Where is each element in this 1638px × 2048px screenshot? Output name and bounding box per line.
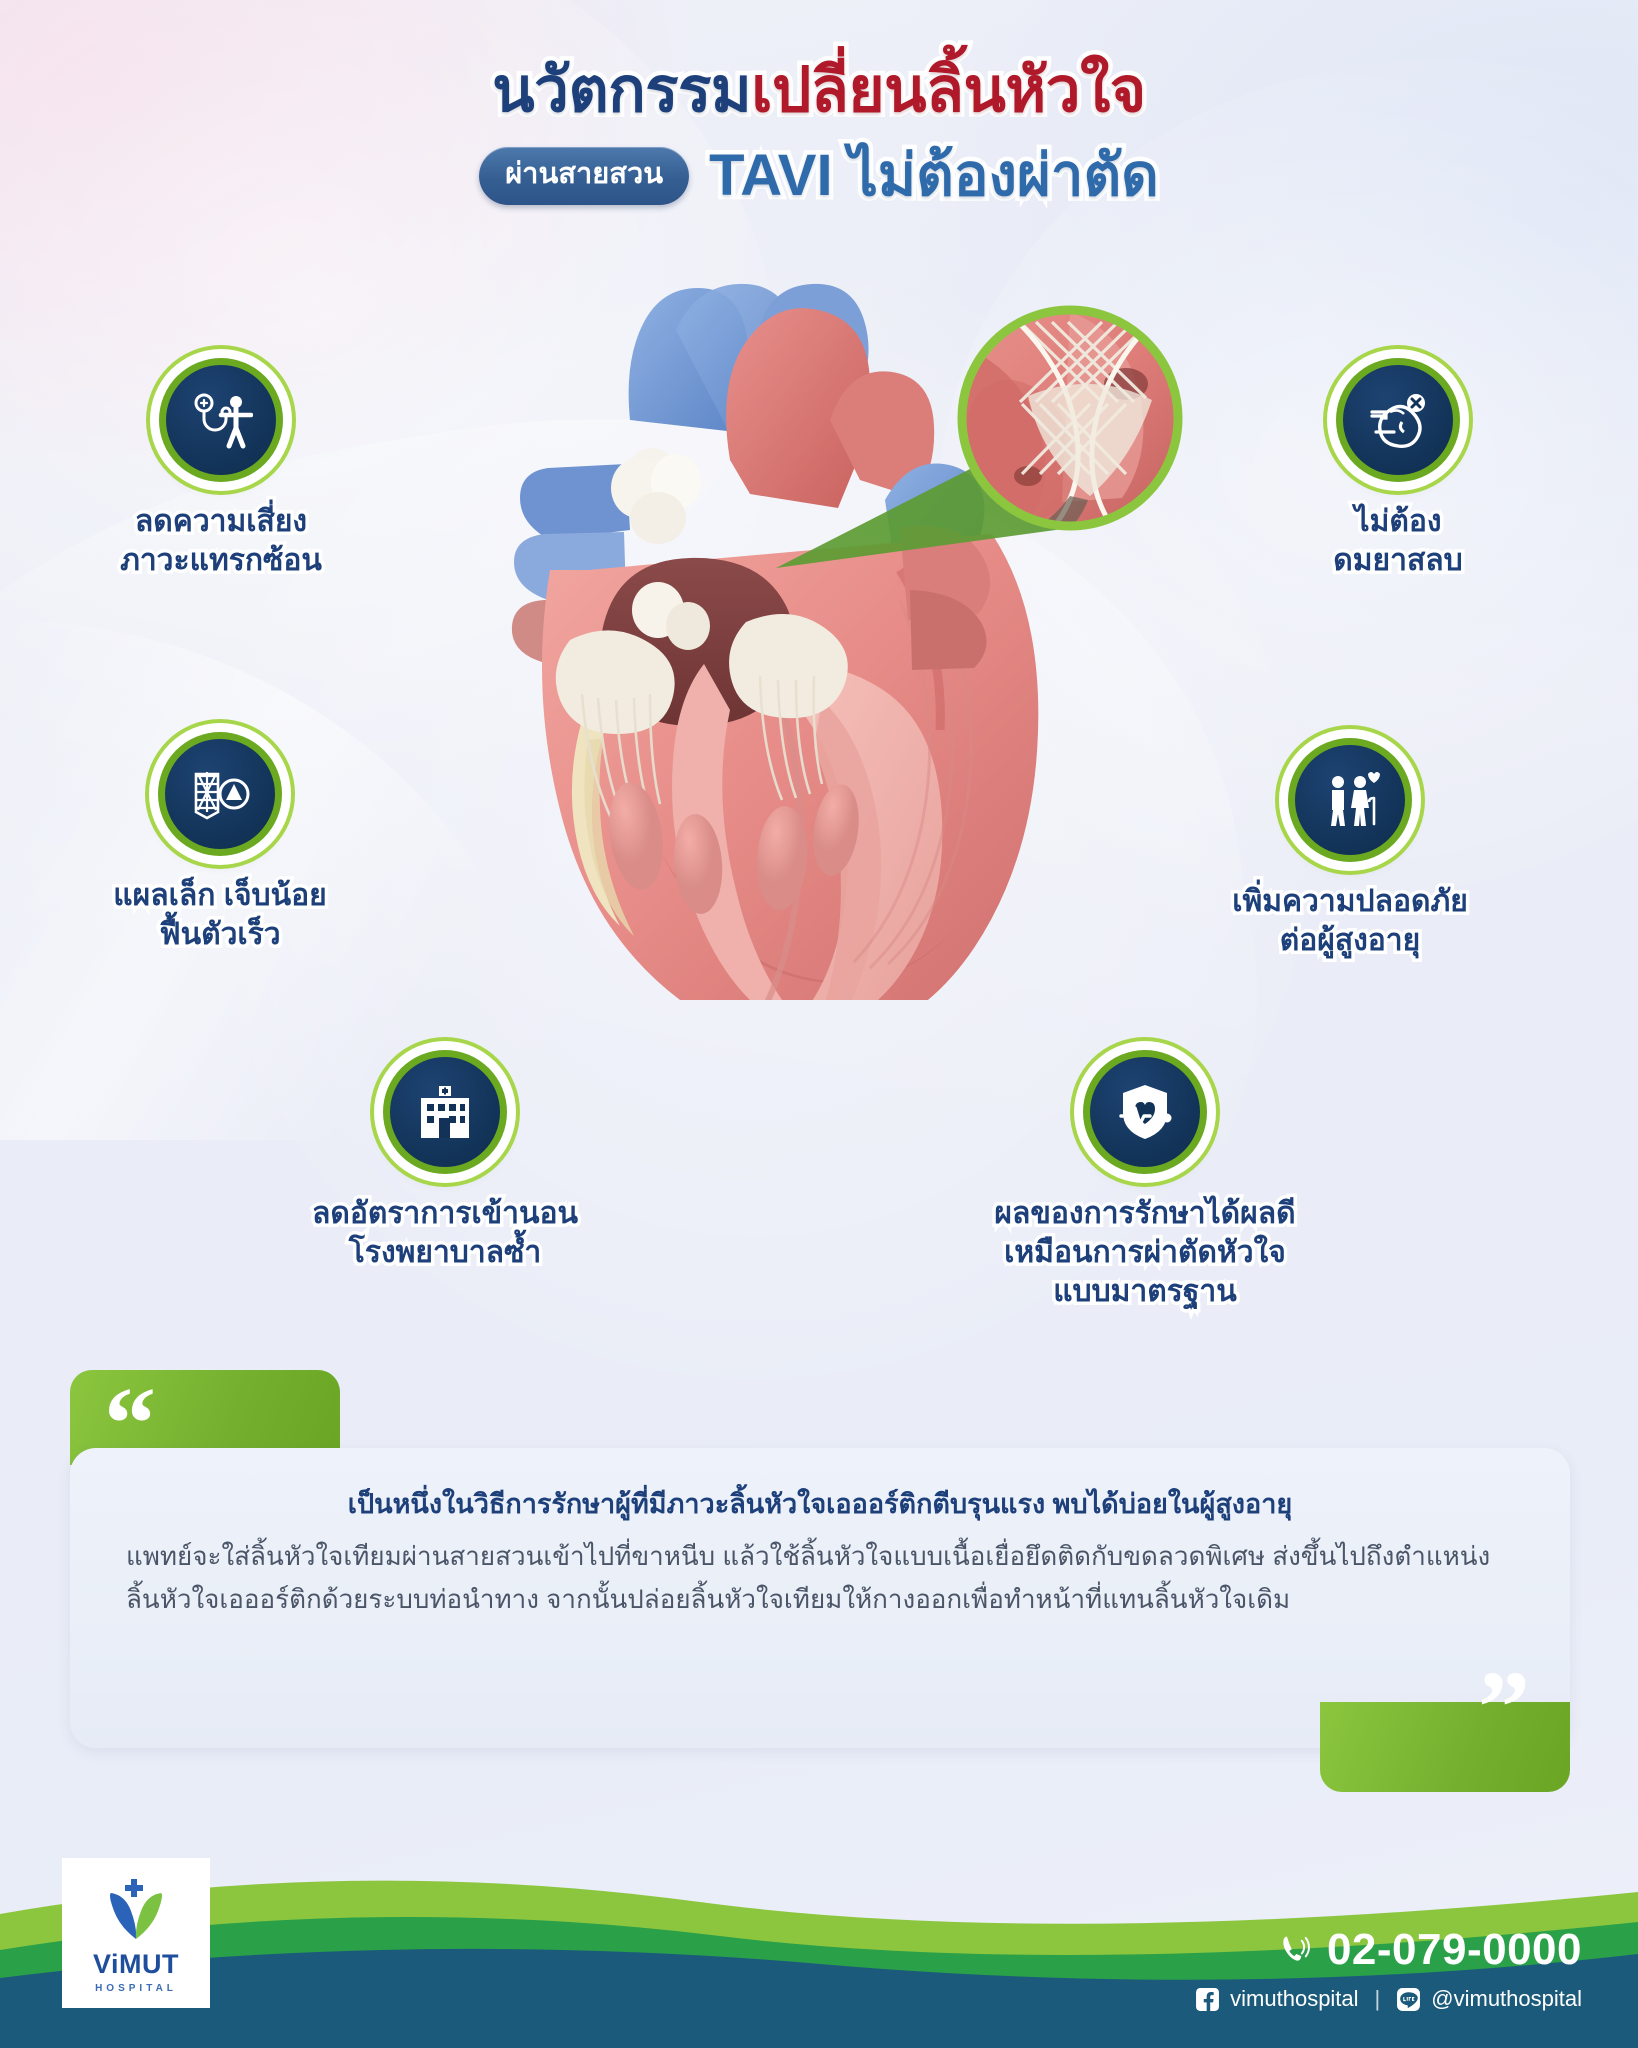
quote-close-tab: ” bbox=[1320, 1702, 1570, 1792]
poster-footer: ViMUT HOSPITAL 02-079-0000 vimuthospital… bbox=[0, 1858, 1638, 2048]
catheter-badge: ผ่านสายสวน bbox=[479, 147, 689, 205]
feature-badge bbox=[1336, 358, 1460, 482]
stent-valve-icon bbox=[188, 762, 252, 826]
infographic-poster: นวัตกรรมเปลี่ยนลิ้นหัวใจ ผ่านสายสวน TAVI… bbox=[0, 0, 1638, 2048]
feature-badge-inner bbox=[1343, 365, 1453, 475]
feature-badge-inner bbox=[1295, 745, 1405, 855]
feature-small-wound-fast-recovery[interactable]: แผลเล็ก เจ็บน้อย ฟื้นตัวเร็ว bbox=[50, 732, 390, 954]
line-handle[interactable]: @vimuthospital bbox=[1431, 1986, 1582, 2012]
feature-badge bbox=[159, 358, 283, 482]
feature-badge-inner bbox=[166, 365, 276, 475]
poster-header: นวัตกรรมเปลี่ยนลิ้นหัวใจ ผ่านสายสวน TAVI… bbox=[0, 54, 1638, 211]
feature-label: ไม่ต้อง ดมยาสลบ bbox=[1248, 502, 1548, 580]
shield-heart-pulse-icon bbox=[1113, 1080, 1177, 1144]
vimut-logo-subtext: HOSPITAL bbox=[95, 1983, 177, 1994]
title-line-1: นวัตกรรมเปลี่ยนลิ้นหัวใจ bbox=[0, 54, 1638, 127]
feature-badge-inner bbox=[165, 739, 275, 849]
quote-close-mark: ” bbox=[1478, 1656, 1530, 1760]
feature-label: เพิ่มความปลอดภัย ต่อผู้สูงอายุ bbox=[1160, 882, 1540, 960]
quote-panel: “ เป็นหนึ่งในวิธีการรักษาผู้ที่มีภาวะลิ้… bbox=[70, 1370, 1570, 1748]
vimut-logo-mark bbox=[101, 1873, 171, 1945]
anesthesia-mask-no-icon bbox=[1366, 388, 1430, 452]
feature-label: แผลเล็ก เจ็บน้อย ฟื้นตัวเร็ว bbox=[50, 876, 390, 954]
quote-headline: เป็นหนึ่งในวิธีการรักษาผู้ที่มีภาวะลิ้นห… bbox=[126, 1484, 1514, 1525]
social-row: vimuthospital | bbox=[1195, 1986, 1582, 2012]
feature-safer-for-elderly[interactable]: เพิ่มความปลอดภัย ต่อผู้สูงอายุ bbox=[1160, 738, 1540, 960]
quote-box: เป็นหนึ่งในวิธีการรักษาผู้ที่มีภาวะลิ้นห… bbox=[70, 1448, 1570, 1748]
phone-row[interactable]: 02-079-0000 bbox=[1195, 1928, 1582, 1972]
feature-reduce-readmission-rate[interactable]: ลดอัตราการเข้านอน โรงพยาบาลซ้ำ bbox=[260, 1050, 630, 1272]
feature-label: ลดความเสี่ยง ภาวะแทรกซ้อน bbox=[46, 502, 396, 580]
facebook-icon[interactable] bbox=[1195, 1987, 1220, 2012]
title-tavi-text: TAVI ไม่ต้องผ่าตัด bbox=[709, 141, 1159, 211]
feature-label: ผลของการรักษาได้ผลดี เหมือนการผ่าตัดหัวใ… bbox=[935, 1194, 1355, 1311]
phone-icon bbox=[1277, 1933, 1311, 1967]
vimut-logo-text: ViMUT bbox=[93, 1951, 179, 1978]
title-line-2: ผ่านสายสวน TAVI ไม่ต้องผ่าตัด bbox=[0, 141, 1638, 211]
feature-reduce-complication-risk[interactable]: ลดความเสี่ยง ภาวะแทรกซ้อน bbox=[46, 358, 396, 580]
title-innovation-text: นวัตกรรม bbox=[492, 56, 751, 125]
feature-label: ลดอัตราการเข้านอน โรงพยาบาลซ้ำ bbox=[260, 1194, 630, 1272]
facebook-handle[interactable]: vimuthospital bbox=[1230, 1986, 1358, 2012]
feature-badge-inner bbox=[390, 1057, 500, 1167]
feature-no-general-anesthesia[interactable]: ไม่ต้อง ดมยาสลบ bbox=[1248, 358, 1548, 580]
line-icon[interactable] bbox=[1396, 1987, 1421, 2012]
feature-badge bbox=[383, 1050, 507, 1174]
feature-badge bbox=[1083, 1050, 1207, 1174]
phone-number[interactable]: 02-079-0000 bbox=[1327, 1928, 1582, 1972]
heart-illustration bbox=[430, 270, 1170, 1000]
feature-badge bbox=[1288, 738, 1412, 862]
stethoscope-patient-icon bbox=[189, 388, 253, 452]
quote-body: แพทย์จะใส่ลิ้นหัวใจเทียมผ่านสายสวนเข้าไป… bbox=[126, 1535, 1514, 1622]
hospital-building-icon bbox=[413, 1080, 477, 1144]
feature-outcome-equal-to-open-surgery[interactable]: ผลของการรักษาได้ผลดี เหมือนการผ่าตัดหัวใ… bbox=[935, 1050, 1355, 1311]
vimut-logo: ViMUT HOSPITAL bbox=[62, 1858, 210, 2008]
feature-badge bbox=[158, 732, 282, 856]
feature-badge-inner bbox=[1090, 1057, 1200, 1167]
elderly-couple-heart-icon bbox=[1318, 768, 1382, 832]
social-separator: | bbox=[1375, 1986, 1381, 2012]
contact-info: 02-079-0000 vimuthospital | bbox=[1195, 1928, 1582, 2012]
title-valve-replacement-text: เปลี่ยนลิ้นหัวใจ bbox=[751, 56, 1145, 125]
